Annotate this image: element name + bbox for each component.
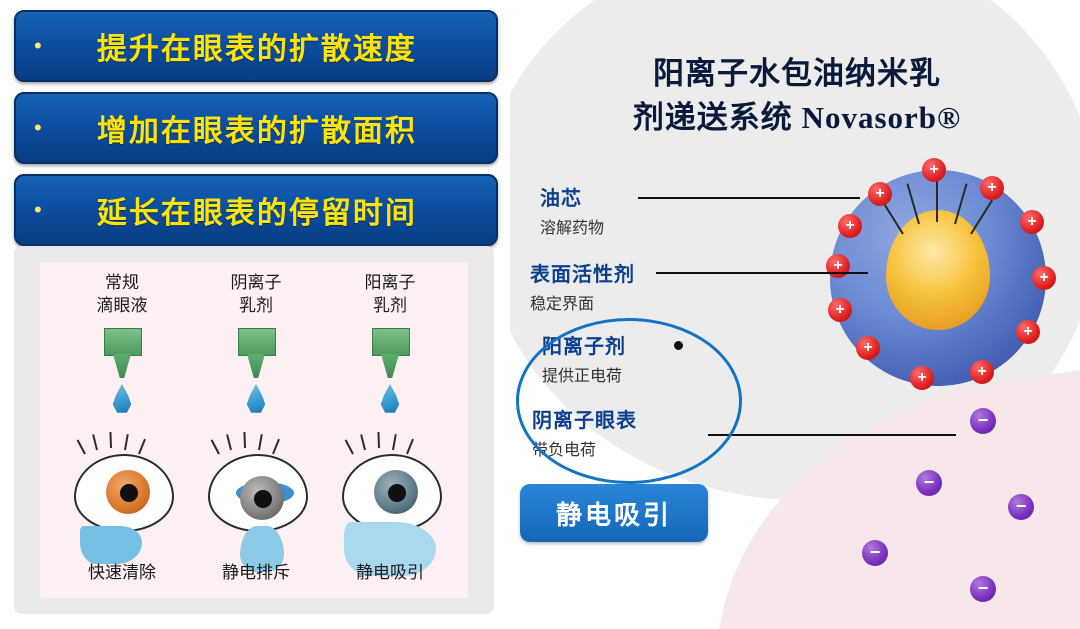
column-heading-1-line1: 常规 <box>62 272 182 295</box>
droplet-icon-1 <box>111 384 133 414</box>
eyelash-icon <box>406 439 414 455</box>
dropper-icon-3 <box>368 328 412 380</box>
positive-charge-icon: + <box>1032 266 1056 290</box>
leader-line-surfactant <box>656 272 868 274</box>
eyelash-icon <box>392 434 397 450</box>
label-surfactant-sub: 稳定界面 <box>530 290 635 314</box>
leader-line-oil-core <box>638 197 860 199</box>
negative-charge-icon: − <box>862 540 888 566</box>
comparison-panel-canvas: 常规 滴眼液 阴离子 乳剂 阳离子 乳剂 <box>40 262 468 598</box>
column-heading-1: 常规 滴眼液 <box>62 272 182 318</box>
eye-pupil <box>388 484 406 502</box>
column-heading-2-line2: 乳剂 <box>196 295 316 318</box>
eye-pupil <box>120 484 138 502</box>
eyelash-icon <box>243 432 246 448</box>
eyelash-icon <box>211 439 220 454</box>
eyelash-icon <box>77 439 86 454</box>
bullet-marker-icon: • <box>34 117 42 139</box>
comparison-panel: 常规 滴眼液 阴离子 乳剂 阳离子 乳剂 <box>14 246 494 614</box>
eye-sclera <box>208 454 308 532</box>
nanoemulsion-droplet: + + + + + + + + + + + + <box>830 170 1046 386</box>
left-column: • 提升在眼表的扩散速度 • 增加在眼表的扩散面积 • 延长在眼表的停留时间 常… <box>0 0 510 629</box>
eyelash-icon <box>226 434 232 450</box>
eye-iris <box>106 470 150 514</box>
negative-charge-icon: − <box>970 408 996 434</box>
eyelash-icon <box>377 432 380 448</box>
negative-charge-icon: − <box>1008 494 1034 520</box>
label-oil-core-sub: 溶解药物 <box>540 214 604 238</box>
negative-charge-icon: − <box>916 470 942 496</box>
eyelash-icon <box>258 434 263 450</box>
eye-pupil <box>254 490 272 508</box>
label-surfactant-title: 表面活性剂 <box>530 258 635 287</box>
positive-charge-icon: + <box>828 298 852 322</box>
dropper-body <box>104 328 142 356</box>
column-footer-3: 静电吸引 <box>330 558 450 583</box>
bullet-text-3: 延长在眼表的停留时间 <box>48 188 496 232</box>
eye-sclera <box>74 454 174 532</box>
negative-charge-icon: − <box>970 576 996 602</box>
positive-charge-icon: + <box>970 360 994 384</box>
dropper-tip <box>381 354 399 378</box>
highlight-ellipse <box>516 318 742 484</box>
dropper-icon-1 <box>100 328 144 380</box>
droplet-icon-2 <box>245 384 267 414</box>
bullet-marker-icon: • <box>34 35 42 57</box>
eyelash-icon <box>272 439 280 455</box>
positive-charge-icon: + <box>980 176 1004 200</box>
positive-charge-icon: + <box>838 214 862 238</box>
column-heading-2: 阴离子 乳剂 <box>196 272 316 318</box>
label-oil-core-title: 油芯 <box>540 182 604 211</box>
positive-charge-icon: + <box>910 366 934 390</box>
electrostatic-attraction-badge: 静电吸引 <box>520 484 708 542</box>
bullet-box-2: • 增加在眼表的扩散面积 <box>14 92 498 164</box>
label-surfactant: 表面活性剂 稳定界面 <box>530 258 635 314</box>
column-heading-3-line2: 乳剂 <box>330 295 450 318</box>
bullet-text-2: 增加在眼表的扩散面积 <box>48 106 496 150</box>
column-heading-3: 阳离子 乳剂 <box>330 272 450 318</box>
label-oil-core: 油芯 溶解药物 <box>540 182 604 238</box>
eye-iris <box>374 470 418 514</box>
bullet-text-1: 提升在眼表的扩散速度 <box>48 24 496 68</box>
dropper-tip <box>113 354 131 378</box>
eyelash-icon <box>360 434 366 450</box>
dropper-icon-2 <box>234 328 278 380</box>
right-column: 阳离子水包油纳米乳 剂递送系统 Novasorb® + + + + + + + … <box>510 0 1080 629</box>
positive-charge-icon: + <box>1020 210 1044 234</box>
positive-charge-icon: + <box>922 158 946 182</box>
eye-sclera <box>342 454 442 532</box>
bullet-box-1: • 提升在眼表的扩散速度 <box>14 10 498 82</box>
column-heading-2-line1: 阴离子 <box>196 272 316 295</box>
eye-iris <box>240 476 284 520</box>
dropper-body <box>238 328 276 356</box>
column-heading-1-line2: 滴眼液 <box>62 295 182 318</box>
droplet-icon-3 <box>379 384 401 414</box>
electrostatic-attraction-badge-label: 静电吸引 <box>556 495 672 532</box>
bullet-marker-icon: • <box>34 199 42 221</box>
surfactant-spike-icon <box>936 178 938 222</box>
eyelash-icon <box>124 434 129 450</box>
column-footer-2: 静电排斥 <box>196 558 316 583</box>
dropper-tip <box>247 354 265 378</box>
eyelash-icon <box>109 432 112 448</box>
column-footer-1: 快速清除 <box>62 558 182 583</box>
column-heading-3-line1: 阳离子 <box>330 272 450 295</box>
positive-charge-icon: + <box>826 254 850 278</box>
eyelash-icon <box>345 439 354 454</box>
positive-charge-icon: + <box>856 336 880 360</box>
eyelash-icon <box>138 439 146 455</box>
diagram-title: 阳离子水包油纳米乳 剂递送系统 Novasorb® <box>562 52 1032 140</box>
diagram-title-line2: 剂递送系统 Novasorb® <box>562 96 1032 140</box>
bullet-box-3: • 延长在眼表的停留时间 <box>14 174 498 246</box>
leader-line-anionic-surface <box>708 434 956 436</box>
positive-charge-icon: + <box>1016 320 1040 344</box>
positive-charge-icon: + <box>868 182 892 206</box>
eyelash-icon <box>92 434 98 450</box>
dropper-body <box>372 328 410 356</box>
diagram-title-line1: 阳离子水包油纳米乳 <box>562 52 1032 96</box>
